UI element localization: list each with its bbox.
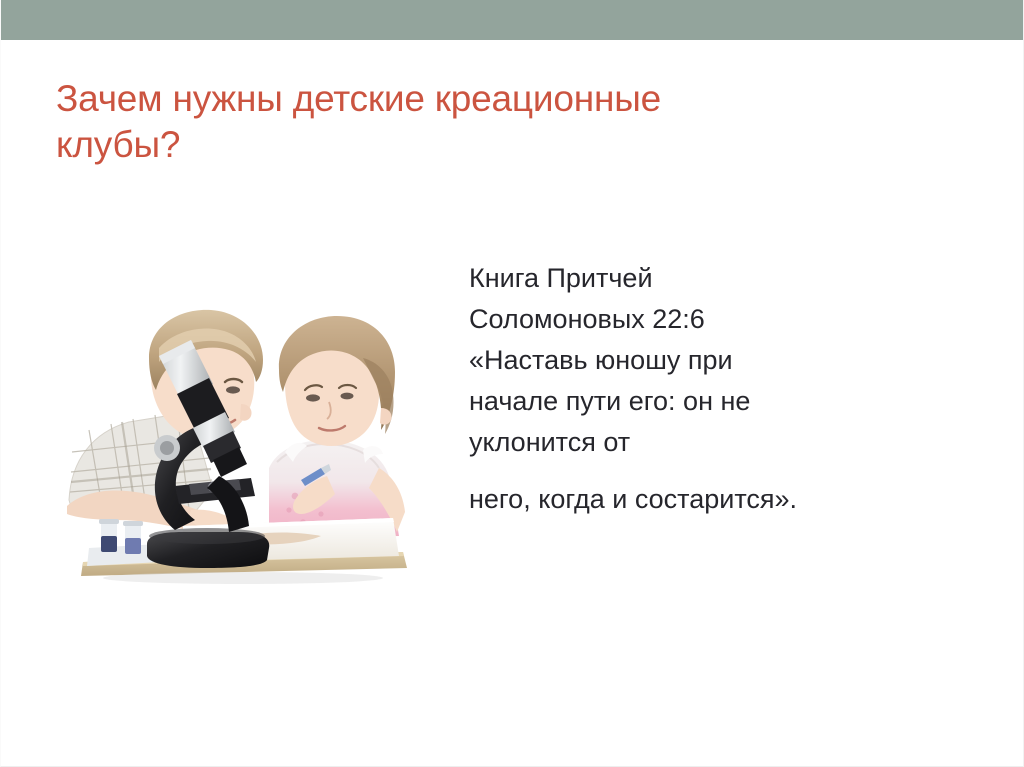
scripture-quote-part-2: него, когда и состарится». [469,479,985,520]
top-accent-band [1,0,1024,40]
page-title: Зачем нужны детские креационные клубы? [56,76,936,169]
title-block: Зачем нужны детские креационные клубы? [56,76,936,169]
photo-illustration [63,300,419,588]
slide: Зачем нужны детские креационные клубы? [0,0,1024,767]
photo-children-with-microscope [63,300,419,588]
scripture-quote-part-1: «Наставь юношу при начале пути его: он н… [469,340,985,463]
scripture-text-block: Книга Притчей Соломоновых 22:6 «Наставь … [469,258,985,520]
scripture-reference: Книга Притчей Соломоновых 22:6 [469,258,985,340]
